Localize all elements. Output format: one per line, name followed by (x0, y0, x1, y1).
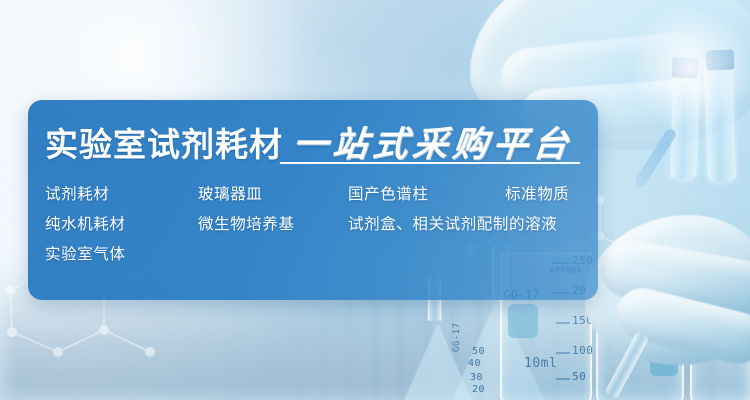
category-list: 试剂耗材 玻璃器皿 国产色谱柱 标准物质 纯水机耗材 微生物培养基 试剂盒、相关… (45, 182, 590, 272)
category-item-laboratory-gases[interactable]: 实验室气体 (45, 242, 126, 264)
category-item-glassware[interactable]: 玻璃器皿 (198, 182, 262, 204)
headline-main-text: 实验室试剂耗材 (45, 118, 283, 166)
category-item-domestic-chromatography-column[interactable]: 国产色谱柱 (348, 182, 429, 204)
category-item-reagent-consumables[interactable]: 试剂耗材 (45, 182, 109, 204)
headline-panel: 实验室试剂耗材 一站式采购平台 试剂耗材 玻璃器皿 国产色谱柱 标准物质 纯水机… (28, 100, 598, 300)
headline: 实验室试剂耗材 一站式采购平台 (45, 116, 573, 167)
category-item-reagent-kits-solutions[interactable]: 试剂盒、相关试剂配制的溶液 (348, 212, 557, 234)
category-row-2: 纯水机耗材 微生物培养基 试剂盒、相关试剂配制的溶液 (45, 212, 590, 242)
category-row-3: 实验室气体 (45, 242, 590, 272)
lab-reagent-banner: 250 APPROX 200 150 100 50 GG-17 10ml 50 … (0, 0, 750, 400)
headline-underline (280, 162, 580, 164)
category-item-water-purifier-consumables[interactable]: 纯水机耗材 (45, 212, 126, 234)
category-item-reference-material[interactable]: 标准物质 (505, 182, 569, 204)
category-item-microbial-culture-media[interactable]: 微生物培养基 (198, 212, 295, 234)
category-row-1: 试剂耗材 玻璃器皿 国产色谱柱 标准物质 (45, 182, 590, 212)
headline-script-text: 一站式采购平台 (290, 116, 575, 167)
